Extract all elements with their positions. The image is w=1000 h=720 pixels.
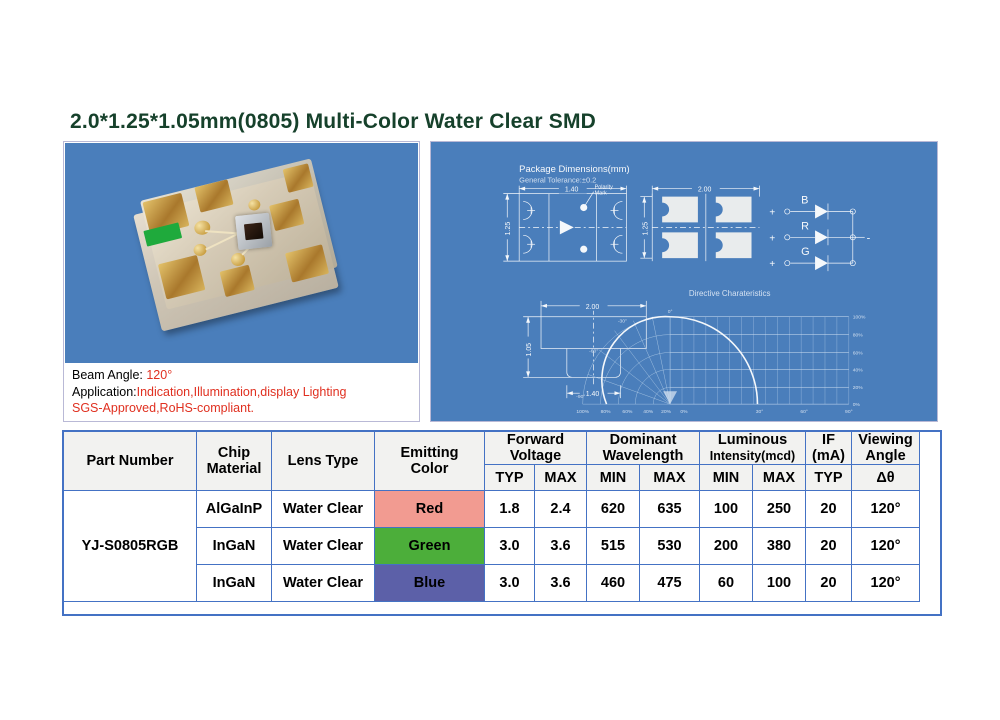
package-drawing-panel: Package Dimensions(mm) General Tolerance… [430,141,938,422]
col-if-line1: IF [806,432,851,448]
application-value: Indication,Illumination,display Lighting [137,385,347,399]
col-dominant-wavelength-line1: Dominant [587,432,699,448]
application-label: Application: [72,385,137,399]
col-viewing-angle: Viewing Angle [852,432,920,465]
cell-vf-max: 3.6 [535,565,587,602]
cell-iv-min: 60 [700,565,753,602]
svg-text:2.00: 2.00 [698,187,712,194]
svg-text:40%: 40% [643,409,654,415]
svg-text:2.00: 2.00 [586,304,600,311]
col-dominant-wavelength-line2: Wavelength [587,448,699,464]
svg-text:0%: 0% [853,402,861,408]
cell-wl-max: 530 [640,528,700,565]
cell-iv-max: 100 [753,565,806,602]
svg-text:1.25: 1.25 [505,222,512,236]
cell-vf-typ: 3.0 [485,565,535,602]
col-emitting-color-line1: Emitting [375,445,484,461]
cell-iv-min: 200 [700,528,753,565]
svg-text:-60°: -60° [589,348,598,354]
cell-viewing-angle: 120° [852,491,920,528]
col-forward-voltage-line2: Voltage [485,448,586,464]
subcol-vf-typ: TYP [485,465,535,491]
subcol-iv-min: MIN [700,465,753,491]
product-photo [65,143,418,363]
cell-wl-min: 460 [587,565,640,602]
beam-angle-label: Beam Angle: [72,368,146,382]
cell-part-number: YJ-S0805RGB [64,491,197,602]
subcol-wl-min: MIN [587,465,640,491]
cell-chip-material: InGaN [197,565,272,602]
col-if: IF (mA) [806,432,852,465]
col-chip-material-line2: Material [197,461,271,477]
svg-text:90°: 90° [845,409,853,415]
cell-viewing-angle: 120° [852,528,920,565]
col-chip-material: Chip Material [197,432,272,491]
cell-viewing-angle: 120° [852,565,920,602]
col-forward-voltage: Forward Voltage [485,432,587,465]
cell-vf-max: 2.4 [535,491,587,528]
application-line: Application:Indication,Illumination,disp… [72,384,412,401]
cell-iv-max: 250 [753,491,806,528]
svg-text:0%: 0% [680,409,688,415]
cell-lens-type: Water Clear [272,565,375,602]
col-emitting-color: Emitting Color [375,432,485,491]
svg-text:+: + [769,233,775,244]
cell-vf-max: 3.6 [535,528,587,565]
beam-angle-value: 120° [146,368,172,382]
svg-text:0°: 0° [668,309,673,315]
subcol-if-typ: TYP [806,465,852,491]
col-luminous-intensity: Luminous Intensity(mcd) [700,432,806,465]
col-chip-material-line1: Chip [197,445,271,461]
page-title: 2.0*1.25*1.05mm(0805) Multi-Color Water … [70,110,596,134]
cell-wl-max: 635 [640,491,700,528]
compliance-line: SGS-Approved,RoHS-compliant. [72,400,412,417]
table-header-row-1: Part Number Chip Material Lens Type Emit… [64,432,920,465]
svg-text:100%: 100% [576,409,589,415]
cell-wl-min: 515 [587,528,640,565]
cell-if-typ: 20 [806,565,852,602]
svg-text:G: G [801,246,809,258]
cell-emitting-color: Green [375,528,485,565]
cell-chip-material: AlGaInP [197,491,272,528]
svg-text:80%: 80% [601,409,612,415]
svg-text:+: + [769,259,775,270]
svg-text:1.40: 1.40 [586,391,600,398]
svg-text:100%: 100% [853,315,866,321]
cell-emitting-color: Blue [375,565,485,602]
svg-text:R: R [801,220,809,232]
svg-text:1.05: 1.05 [526,343,533,357]
beam-angle-line: Beam Angle: 120° [72,367,412,384]
col-if-line2: (mA) [806,448,851,464]
cell-if-typ: 20 [806,528,852,565]
svg-text:Mark: Mark [595,191,607,197]
svg-text:20%: 20% [853,385,864,391]
subcol-viewing-delta: Δθ [852,465,920,491]
svg-text:-: - [867,232,871,244]
cell-vf-typ: 3.0 [485,528,535,565]
subcol-vf-max: MAX [535,465,587,491]
subcol-wl-max: MAX [640,465,700,491]
col-luminous-intensity-line1: Luminous [700,432,805,448]
svg-text:Package Dimensions(mm): Package Dimensions(mm) [519,163,629,174]
col-viewing-angle-line2: Angle [852,448,919,464]
svg-text:+: + [769,207,775,218]
svg-text:20%: 20% [661,409,672,415]
cell-iv-max: 380 [753,528,806,565]
photo-caption: Beam Angle: 120° Application:Indication,… [72,367,412,417]
svg-text:30°: 30° [756,409,764,415]
col-emitting-color-line2: Color [375,461,484,477]
svg-text:B: B [801,195,808,207]
cell-iv-min: 100 [700,491,753,528]
product-photo-panel: Beam Angle: 120° Application:Indication,… [63,141,420,422]
cell-wl-min: 620 [587,491,640,528]
col-dominant-wavelength: Dominant Wavelength [587,432,700,465]
cell-vf-typ: 1.8 [485,491,535,528]
cell-wl-max: 475 [640,565,700,602]
cell-chip-material: InGaN [197,528,272,565]
cell-emitting-color: Red [375,491,485,528]
cell-lens-type: Water Clear [272,491,375,528]
svg-text:40%: 40% [853,367,864,373]
svg-text:1.25: 1.25 [642,222,649,236]
specification-table: Part Number Chip Material Lens Type Emit… [63,431,920,602]
datasheet-page: 2.0*1.25*1.05mm(0805) Multi-Color Water … [0,0,1000,720]
svg-text:60%: 60% [622,409,633,415]
svg-text:General Tolerance:±0.2: General Tolerance:±0.2 [519,176,596,185]
svg-text:80%: 80% [853,333,864,339]
col-viewing-angle-line1: Viewing [852,432,919,448]
svg-text:-30°: -30° [618,319,627,325]
subcol-iv-max: MAX [753,465,806,491]
led-component-image [65,143,418,363]
col-lens-type: Lens Type [272,432,375,491]
svg-text:60°: 60° [800,409,808,415]
svg-text:1.40: 1.40 [565,187,579,194]
table-row: YJ-S0805RGB AlGaInP Water Clear Red 1.8 … [64,491,920,528]
col-luminous-intensity-line2: Intensity(mcd) [700,448,805,464]
cell-if-typ: 20 [806,491,852,528]
svg-text:60%: 60% [853,350,864,356]
svg-text:Directive Charateristics: Directive Charateristics [689,289,771,298]
package-dimensions-drawing: Package Dimensions(mm) General Tolerance… [431,142,937,421]
col-forward-voltage-line1: Forward [485,432,586,448]
col-part-number: Part Number [64,432,197,491]
cell-lens-type: Water Clear [272,528,375,565]
svg-text:-90°: -90° [576,394,585,400]
